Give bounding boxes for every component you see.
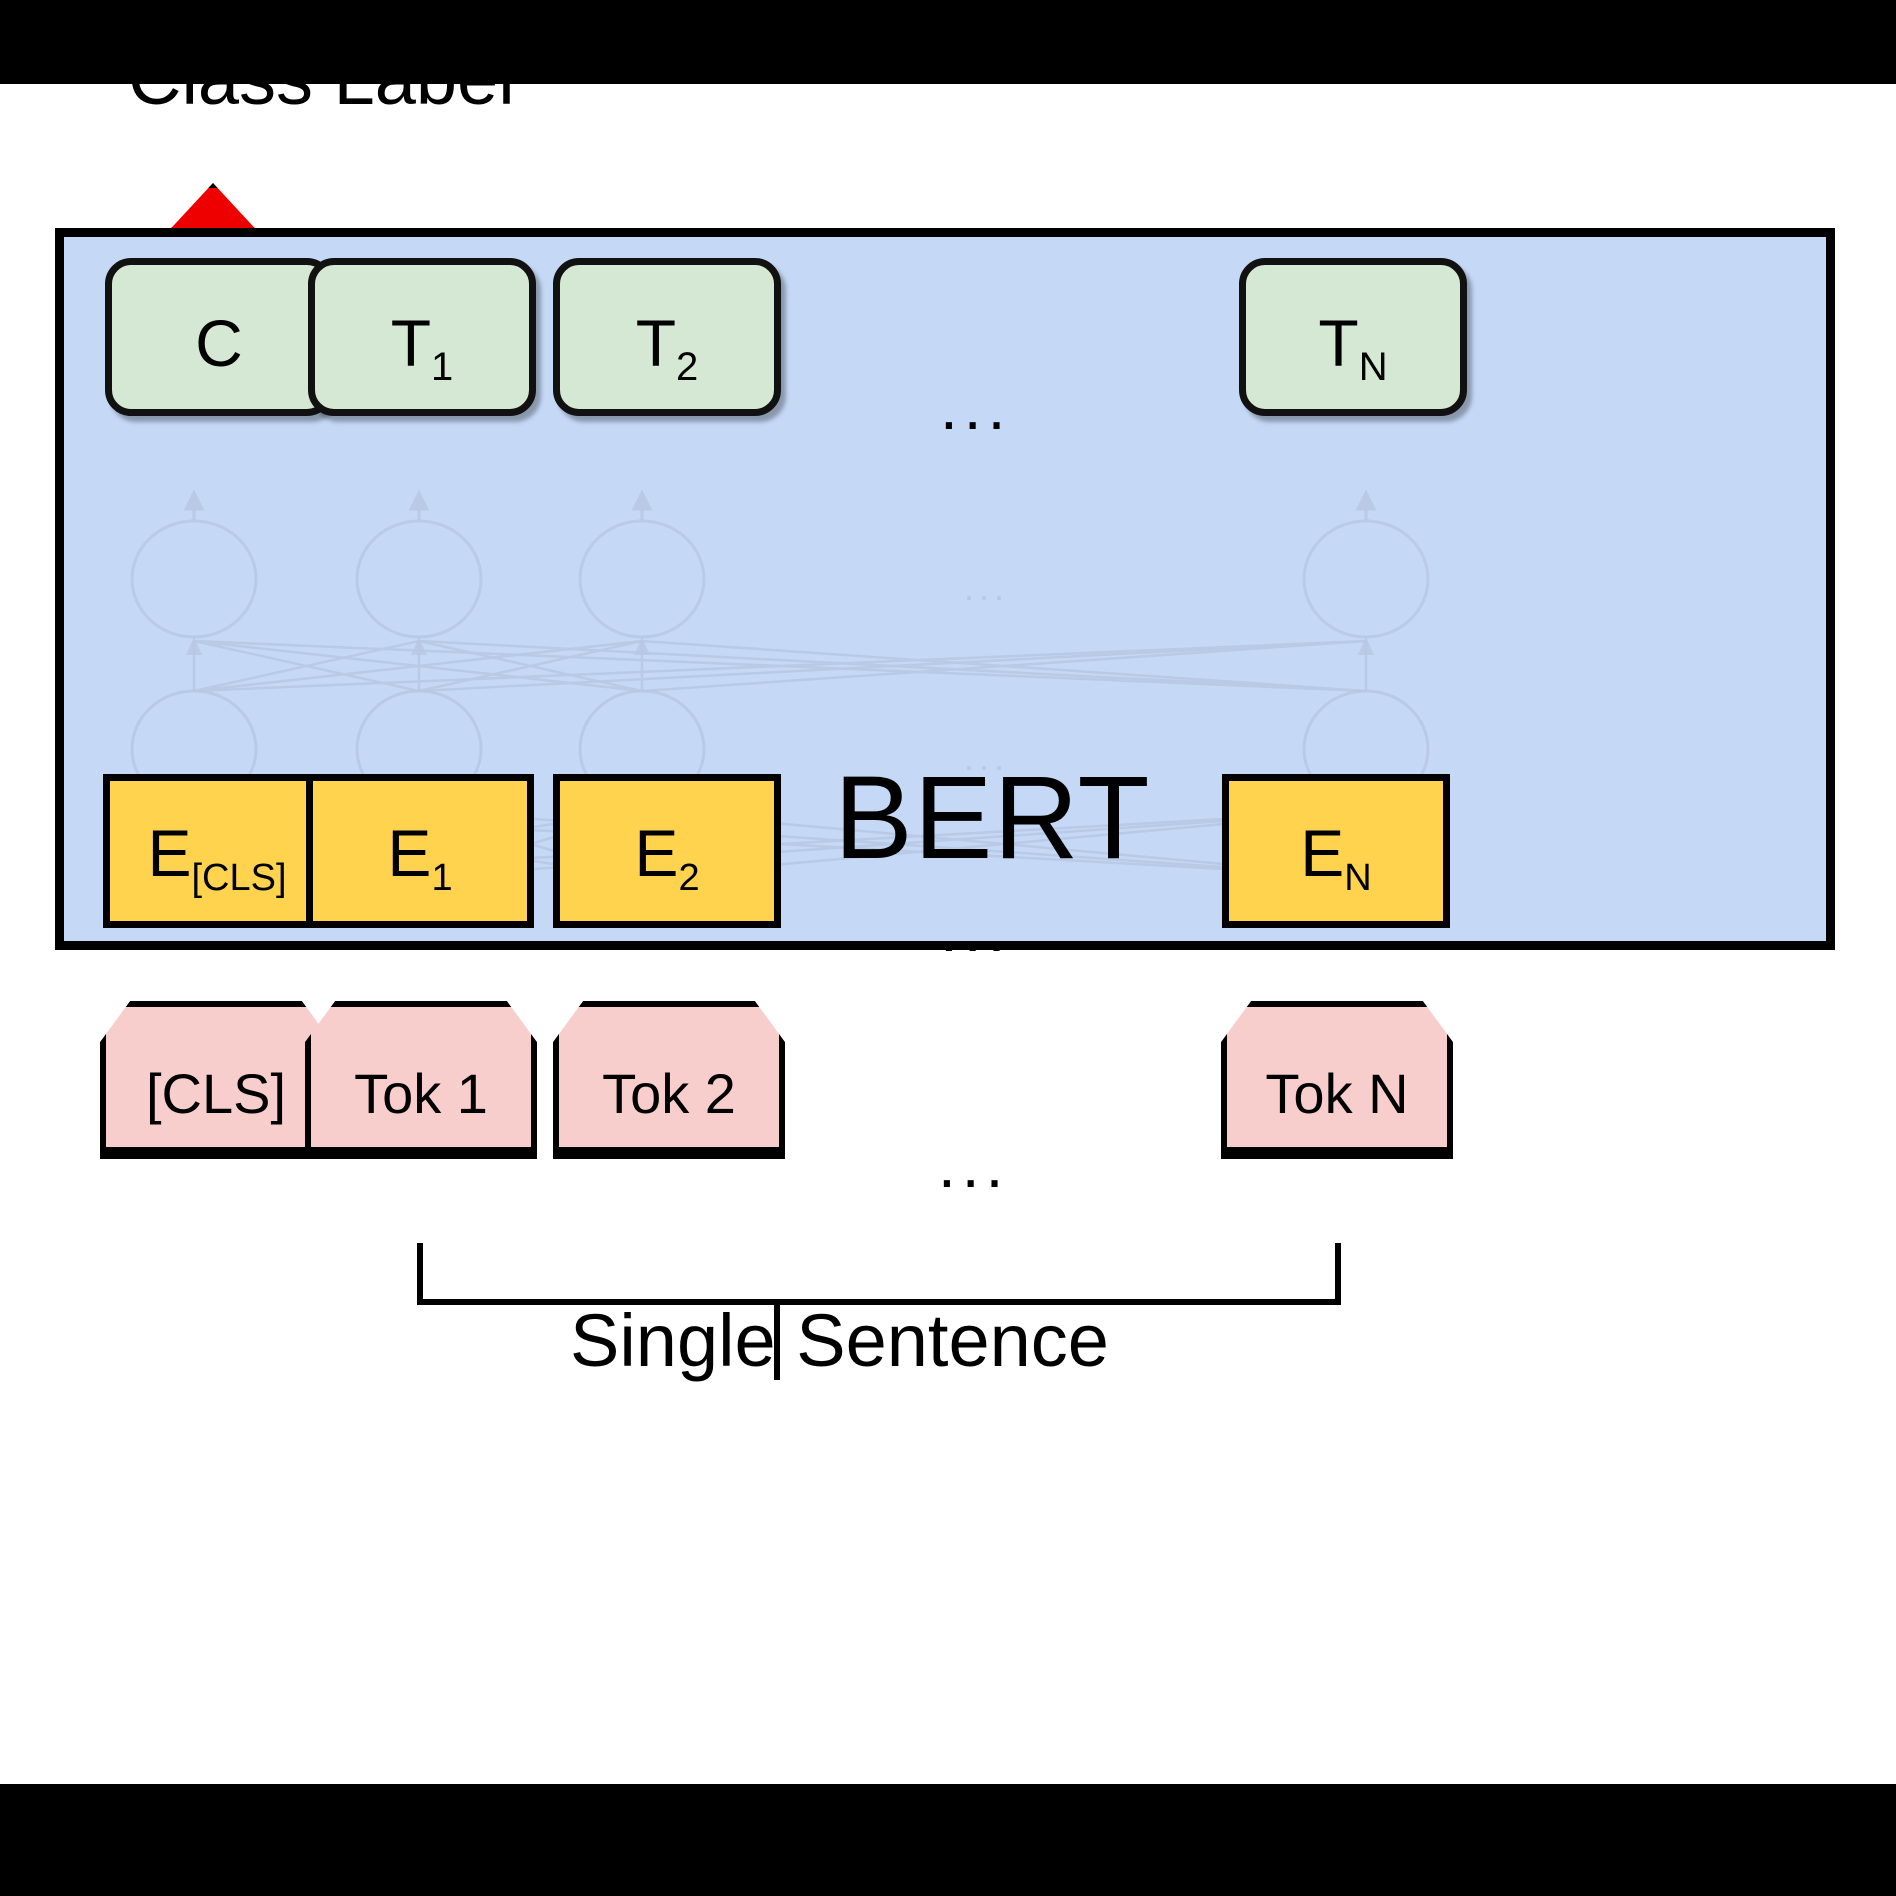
embedding-box-cls[interactable]: E[CLS]: [103, 774, 331, 928]
output-token-box-1[interactable]: T1: [308, 258, 536, 416]
embedding-label: E1: [313, 815, 527, 900]
single-sentence-caption: Single Sentence: [570, 1302, 1109, 1380]
output-token-label: C: [112, 305, 326, 390]
input-token-box-2[interactable]: Tok 2: [553, 1001, 785, 1159]
embedding-row-ellipsis: ...: [940, 892, 1011, 966]
embedding-label: E[CLS]: [110, 815, 324, 900]
output-token-box-2[interactable]: T2: [553, 258, 781, 416]
input-token-label: Tok 1: [305, 1061, 537, 1126]
output-token-box-n[interactable]: TN: [1239, 258, 1467, 416]
output-token-box-cls[interactable]: C: [105, 258, 333, 416]
input-token-box-n[interactable]: Tok N: [1221, 1001, 1453, 1159]
input-row-ellipsis: ...: [938, 1128, 1009, 1202]
embedding-label: EN: [1229, 815, 1443, 900]
input-token-label: Tok N: [1221, 1061, 1453, 1126]
embedding-box-2[interactable]: E2: [553, 774, 781, 928]
input-token-box-cls[interactable]: [CLS]: [100, 1001, 332, 1159]
embedding-box-1[interactable]: E1: [306, 774, 534, 928]
input-token-label: Tok 2: [553, 1061, 785, 1126]
output-token-label: TN: [1246, 305, 1460, 390]
transformer-ellipsis-upper: ...: [964, 567, 1009, 609]
input-token-label: [CLS]: [100, 1061, 332, 1126]
transformer-ellipsis-lower: ...: [964, 737, 1009, 779]
class-label-text: Class Label: [128, 40, 515, 118]
embedding-box-n[interactable]: EN: [1222, 774, 1450, 928]
input-token-box-1[interactable]: Tok 1: [305, 1001, 537, 1159]
embedding-label: E2: [560, 815, 774, 900]
output-row-ellipsis: ...: [940, 370, 1011, 444]
diagram-canvas: Class Label: [0, 0, 1896, 1896]
output-token-label: T1: [315, 305, 529, 390]
output-token-label: T2: [560, 305, 774, 390]
